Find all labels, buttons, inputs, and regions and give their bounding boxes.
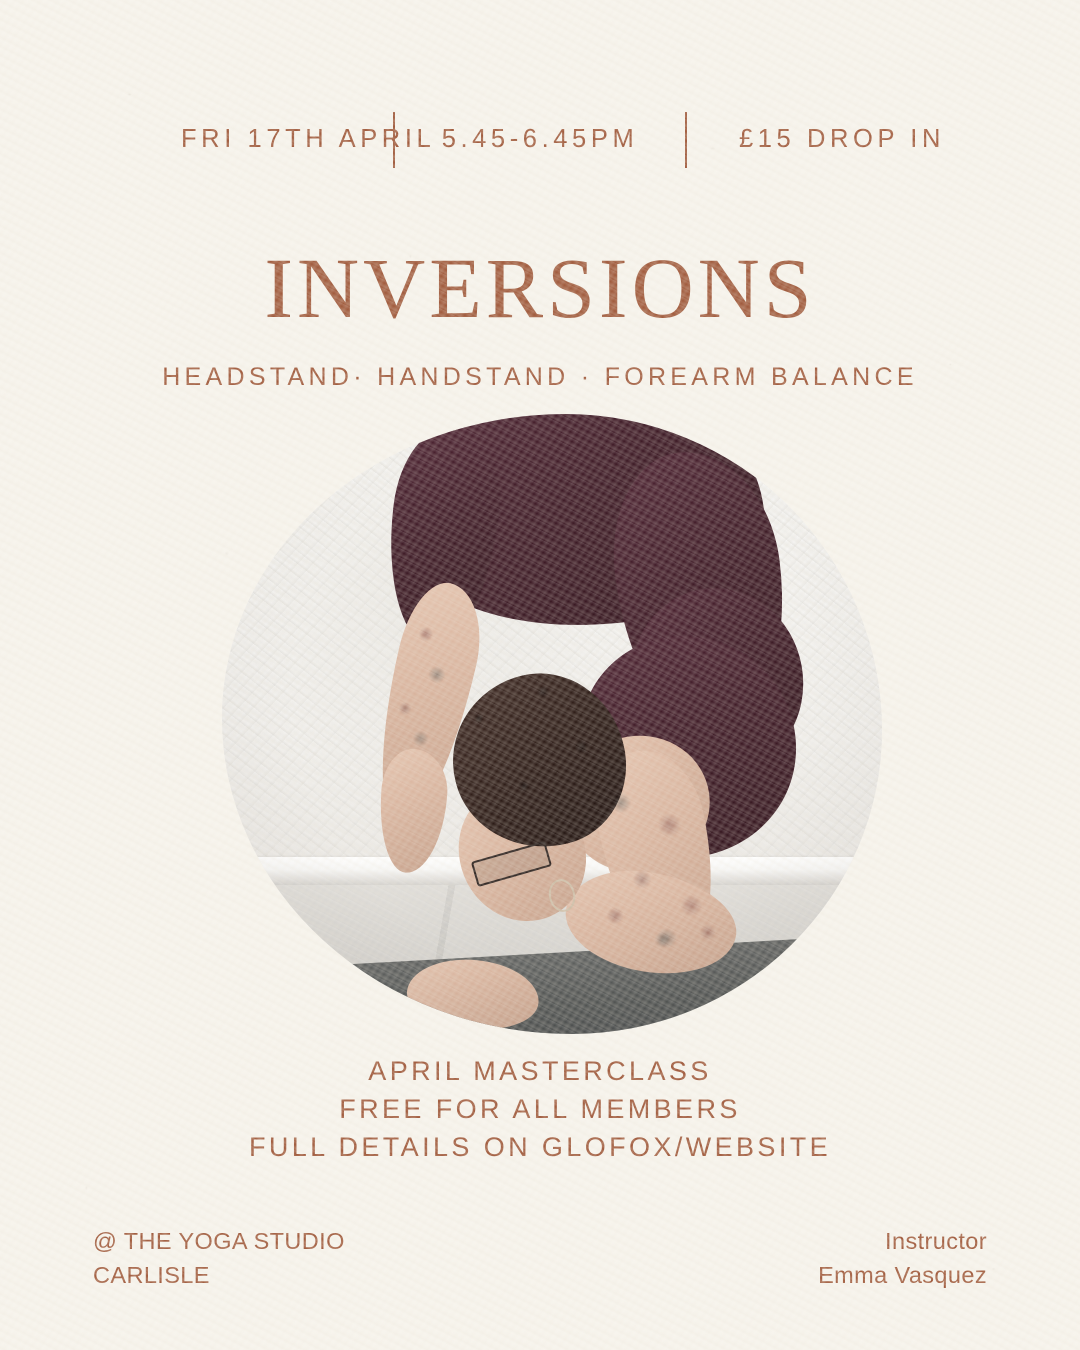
detail-line-2: FREE FOR ALL MEMBERS <box>0 1090 1080 1128</box>
venue-name: @ THE YOGA STUDIO <box>93 1224 345 1258</box>
class-details: APRIL MASTERCLASS FREE FOR ALL MEMBERS F… <box>0 1052 1080 1166</box>
detail-line-1: APRIL MASTERCLASS <box>0 1052 1080 1090</box>
class-subtitle: HEADSTAND· HANDSTAND · FOREARM BALANCE <box>0 365 1080 390</box>
venue-info: @ THE YOGA STUDIO CARLISLE <box>93 1224 345 1292</box>
page-title: INVERSIONS <box>0 245 1080 331</box>
poster-canvas: FRI 17TH APRIL 5.45-6.45PM £15 DROP IN I… <box>0 0 1080 1350</box>
event-price: £15 DROP IN <box>687 127 987 153</box>
detail-line-3: FULL DETAILS ON GLOFOX/WEBSITE <box>0 1128 1080 1166</box>
photo-content <box>222 414 882 1034</box>
instructor-name: Emma Vasquez <box>818 1258 987 1292</box>
instructor-label: Instructor <box>818 1224 987 1258</box>
header-info-row: FRI 17TH APRIL 5.45-6.45PM £15 DROP IN <box>0 107 1080 173</box>
venue-city: CARLISLE <box>93 1258 345 1292</box>
event-date: FRI 17TH APRIL <box>93 127 393 153</box>
instructor-info: Instructor Emma Vasquez <box>818 1224 987 1292</box>
event-time: 5.45-6.45PM <box>395 127 685 153</box>
yoga-pose-photo <box>222 414 882 1034</box>
